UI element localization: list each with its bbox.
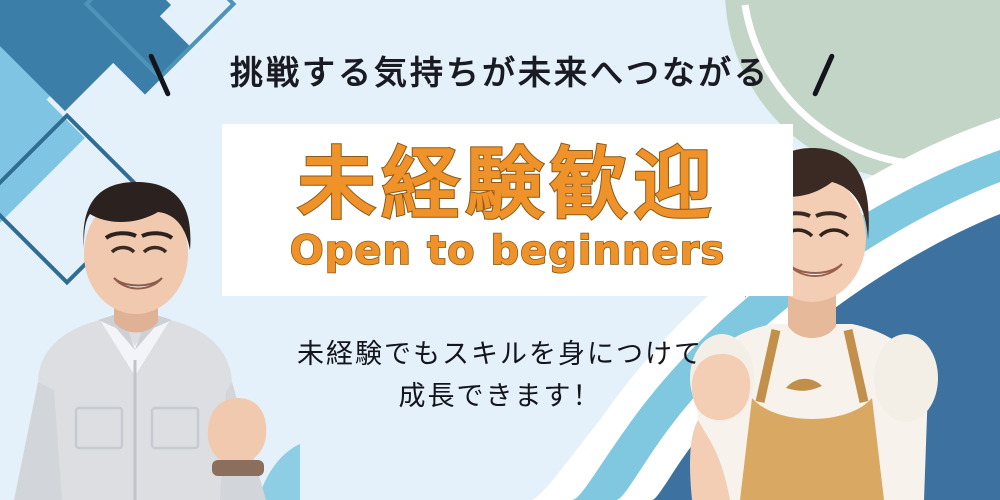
recruitment-banner: 挑戦する気持ちが未来へつながる 未経験歓迎 Open to beginners … — [0, 0, 1000, 500]
male-wristwatch — [212, 460, 264, 476]
headline-panel: 未経験歓迎 Open to beginners — [222, 124, 793, 296]
tagline-text: 挑戦する気持ちが未来へつながる — [0, 46, 1000, 94]
headline-japanese: 未経験歓迎 — [297, 148, 717, 223]
caption-line-2: 成長できます！ — [0, 376, 1000, 418]
caption-line-1: 未経験でもスキルを身につけて — [0, 334, 1000, 376]
headline-english: Open to beginners — [290, 228, 725, 274]
caption-block: 未経験でもスキルを身につけて 成長できます！ — [0, 334, 1000, 418]
